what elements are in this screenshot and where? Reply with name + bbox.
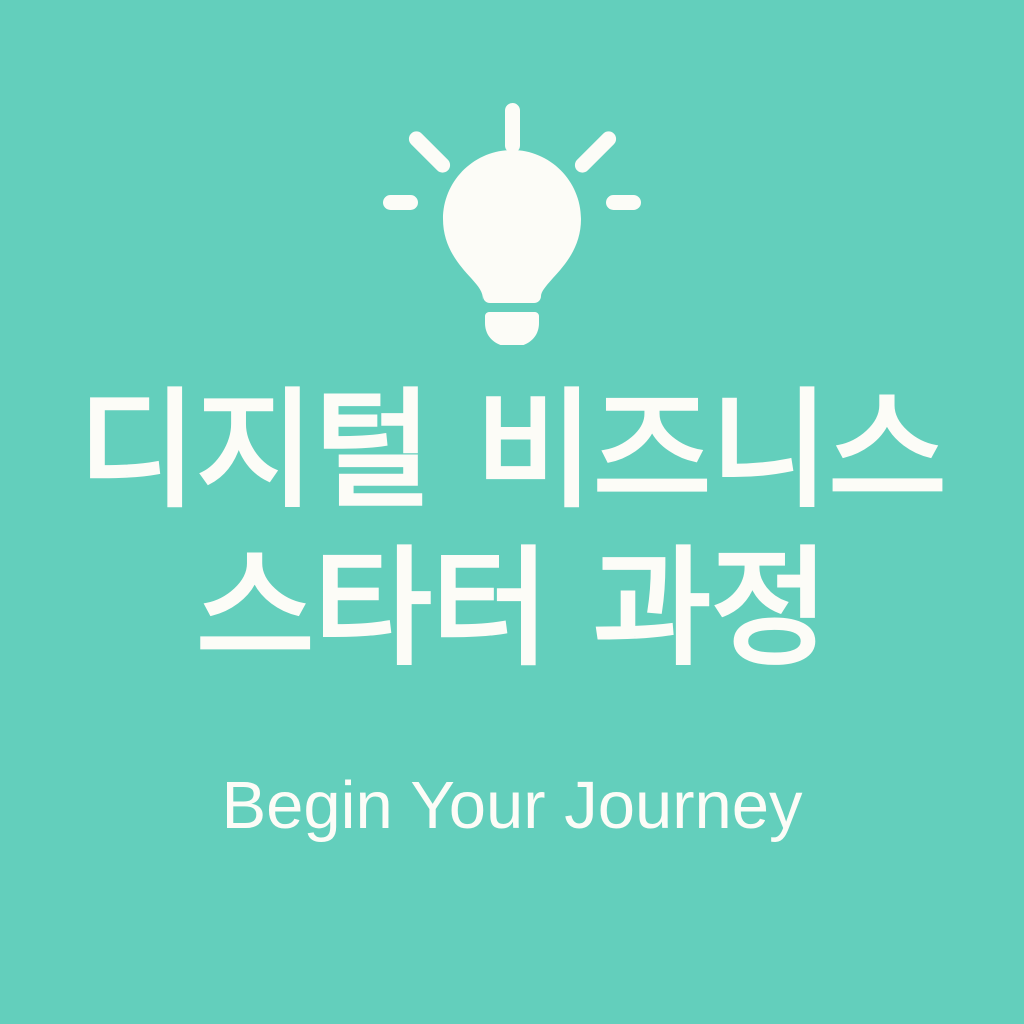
page-title-line-2: 스타터 과정 [78,530,946,688]
text-content: 디지털 비즈니스 스타터 과정 Begin Your Journey [0,372,1024,846]
lightbulb-illustration [0,0,1024,360]
lightbulb-base [485,312,539,345]
lightbulb-ray-upper-right [572,128,619,175]
lightbulb-ray-left [383,195,418,210]
poster-canvas: 디지털 비즈니스 스타터 과정 Begin Your Journey [0,0,1024,1024]
lightbulb-icon [377,95,647,345]
page-title-line-1: 디지털 비즈니스 [78,372,946,530]
lightbulb-ray-upper-left [406,128,453,175]
lightbulb-ray-top [505,103,520,153]
lightbulb-glass [443,150,581,303]
page-subtitle: Begin Your Journey [221,688,802,846]
lightbulb-ray-right [606,195,641,210]
page-title: 디지털 비즈니스 스타터 과정 [78,372,946,688]
